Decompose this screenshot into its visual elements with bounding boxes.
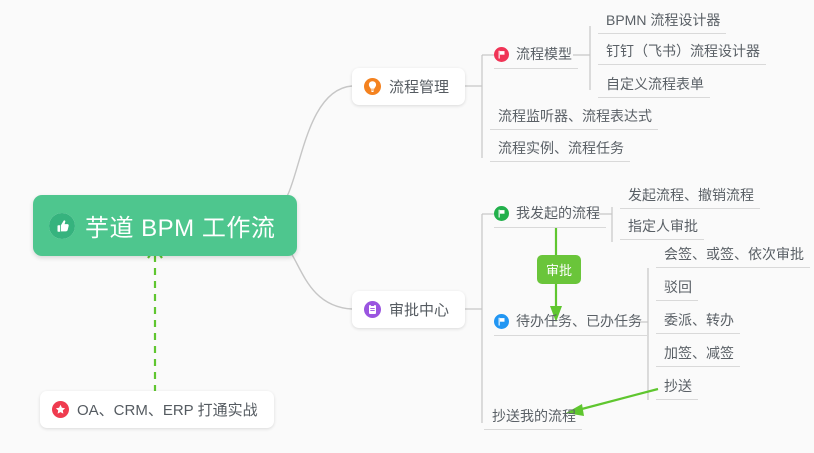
branch-process-management[interactable]: 流程管理: [352, 68, 465, 105]
leaf-countersign-orsign-sequential[interactable]: 会签、或签、依次审批: [656, 246, 810, 268]
subbranch-label-my-initiated: 我发起的流程: [516, 203, 600, 223]
subbranch-todo-done[interactable]: 待办任务、已办任务: [494, 311, 648, 336]
clipboard-icon: [364, 301, 381, 318]
leaf-label: 会签、或签、依次审批: [664, 246, 804, 262]
leaf-label: 加签、减签: [664, 345, 734, 361]
approval-tag: 审批: [537, 255, 581, 284]
leaf-bpmn-designer[interactable]: BPMN 流程设计器: [598, 12, 726, 34]
branch-label-approval-center: 审批中心: [389, 299, 449, 320]
root-node[interactable]: 芋道 BPM 工作流: [33, 195, 297, 256]
lightbulb-icon: [364, 78, 381, 95]
root-label: 芋道 BPM 工作流: [85, 208, 275, 243]
flag-icon: [494, 314, 509, 329]
leaf-label: 发起流程、撤销流程: [628, 187, 754, 203]
link-root-to-process-management: [278, 86, 352, 206]
leaf-label: 钉钉（飞书）流程设计器: [606, 43, 760, 59]
bottom-note-label: OA、CRM、ERP 打通实战: [77, 399, 258, 420]
thumbs-up-icon: [49, 213, 75, 239]
subbranch-process-model[interactable]: 流程模型: [494, 44, 578, 69]
flag-icon: [494, 206, 509, 221]
leaf-cc[interactable]: 抄送: [656, 378, 698, 400]
flag-icon: [494, 47, 509, 62]
leaf-label: BPMN 流程设计器: [606, 12, 720, 28]
leaf-label: 流程监听器、流程表达式: [498, 108, 652, 124]
bottom-note-node[interactable]: OA、CRM、ERP 打通实战: [40, 391, 274, 428]
leaf-delegate-transfer[interactable]: 委派、转办: [656, 312, 740, 334]
mindmap-canvas: 芋道 BPM 工作流 流程管理 流程模型 BPMN 流程设计器 钉钉（飞书）流程…: [0, 0, 814, 453]
branch-approval-center[interactable]: 审批中心: [352, 291, 465, 328]
subbranch-my-initiated[interactable]: 我发起的流程: [494, 203, 606, 228]
leaf-process-instance-task[interactable]: 流程实例、流程任务: [490, 140, 630, 162]
leaf-assignee-approval[interactable]: 指定人审批: [620, 218, 704, 240]
leaf-label: 抄送: [664, 378, 692, 394]
branch-label-process-management: 流程管理: [389, 76, 449, 97]
cc-flow-arrow: [578, 389, 658, 410]
leaf-label: 抄送我的流程: [492, 408, 576, 424]
leaf-reject[interactable]: 驳回: [656, 279, 698, 301]
leaf-start-cancel-process[interactable]: 发起流程、撤销流程: [620, 187, 760, 209]
leaf-dingtalk-feishu-designer[interactable]: 钉钉（飞书）流程设计器: [598, 43, 766, 65]
leaf-label: 自定义流程表单: [606, 76, 704, 92]
subbranch-label-todo-done: 待办任务、已办任务: [516, 311, 642, 331]
star-icon: [52, 401, 69, 418]
subbranch-label-process-model: 流程模型: [516, 44, 572, 64]
leaf-label: 流程实例、流程任务: [498, 140, 624, 156]
leaf-add-remove-sign[interactable]: 加签、减签: [656, 345, 740, 367]
leaf-process-listener-expression[interactable]: 流程监听器、流程表达式: [490, 108, 658, 130]
leaf-cc-to-me[interactable]: 抄送我的流程: [484, 408, 582, 430]
leaf-label: 指定人审批: [628, 218, 698, 234]
leaf-label: 委派、转办: [664, 312, 734, 328]
leaf-custom-process-form[interactable]: 自定义流程表单: [598, 76, 710, 98]
leaf-label: 驳回: [664, 279, 692, 295]
